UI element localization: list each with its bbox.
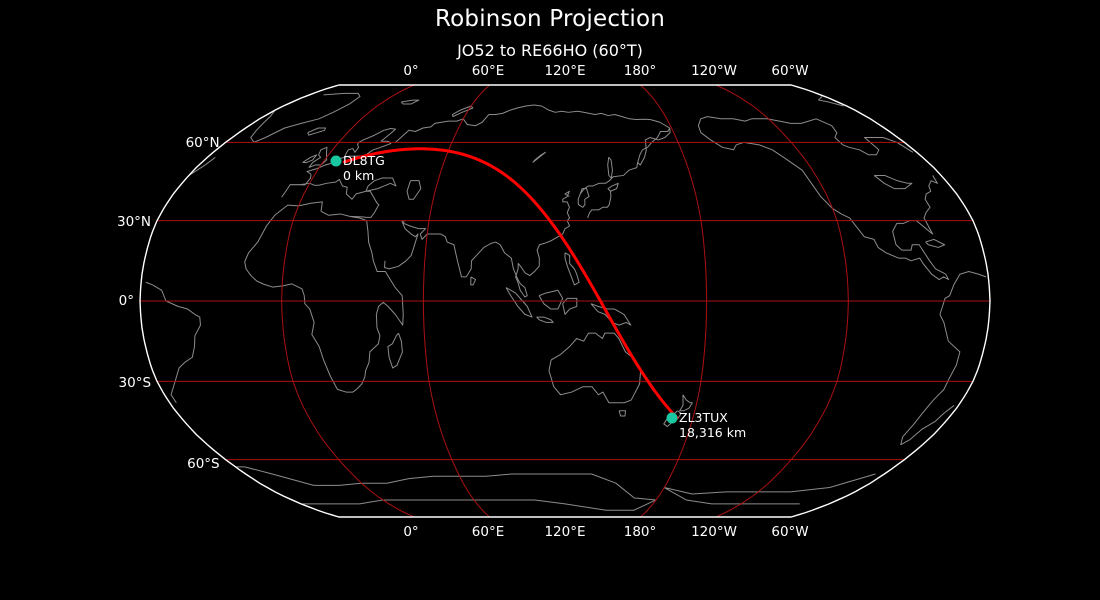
station-marker[interactable]	[667, 413, 678, 424]
longitude-tick-label: 0°	[403, 63, 418, 79]
longitude-tick-label: 120°E	[544, 524, 585, 540]
longitude-tick-label: 180°	[624, 63, 657, 79]
graticule-lines	[140, 85, 990, 517]
latitude-tick-label: 60°S	[187, 456, 220, 472]
longitude-tick-label: 60°W	[771, 63, 808, 79]
station-callsign: DL8TG	[343, 154, 385, 169]
longitude-tick-label: 120°E	[544, 63, 585, 79]
longitude-tick-label: 180°	[624, 524, 657, 540]
coastline-path	[146, 93, 986, 510]
longitude-tick-label: 60°E	[472, 524, 504, 540]
station-label: ZL3TUX18,316 km	[679, 411, 746, 441]
longitude-tick-label: 0°	[403, 524, 418, 540]
station-marker[interactable]	[331, 156, 342, 167]
coastlines-layer	[146, 93, 986, 510]
latitude-tick-label: 30°S	[119, 375, 152, 391]
great-circle-path	[344, 149, 677, 418]
station-distance: 0 km	[343, 169, 385, 184]
robinson-map	[0, 0, 1100, 600]
station-label: DL8TG0 km	[343, 154, 385, 184]
longitude-tick-label: 120°W	[691, 63, 737, 79]
map-figure: Robinson Projection JO52 to RE66HO (60°T…	[0, 0, 1100, 600]
graticule-layer	[140, 85, 990, 517]
longitude-tick-label: 60°W	[771, 524, 808, 540]
latitude-tick-label: 0°	[119, 293, 134, 309]
station-markers	[331, 156, 678, 424]
longitude-tick-label: 60°E	[472, 63, 504, 79]
longitude-tick-label: 120°W	[691, 524, 737, 540]
station-callsign: ZL3TUX	[679, 411, 746, 426]
station-distance: 18,316 km	[679, 426, 746, 441]
latitude-tick-label: 30°N	[117, 214, 151, 230]
latitude-tick-label: 60°N	[186, 135, 220, 151]
